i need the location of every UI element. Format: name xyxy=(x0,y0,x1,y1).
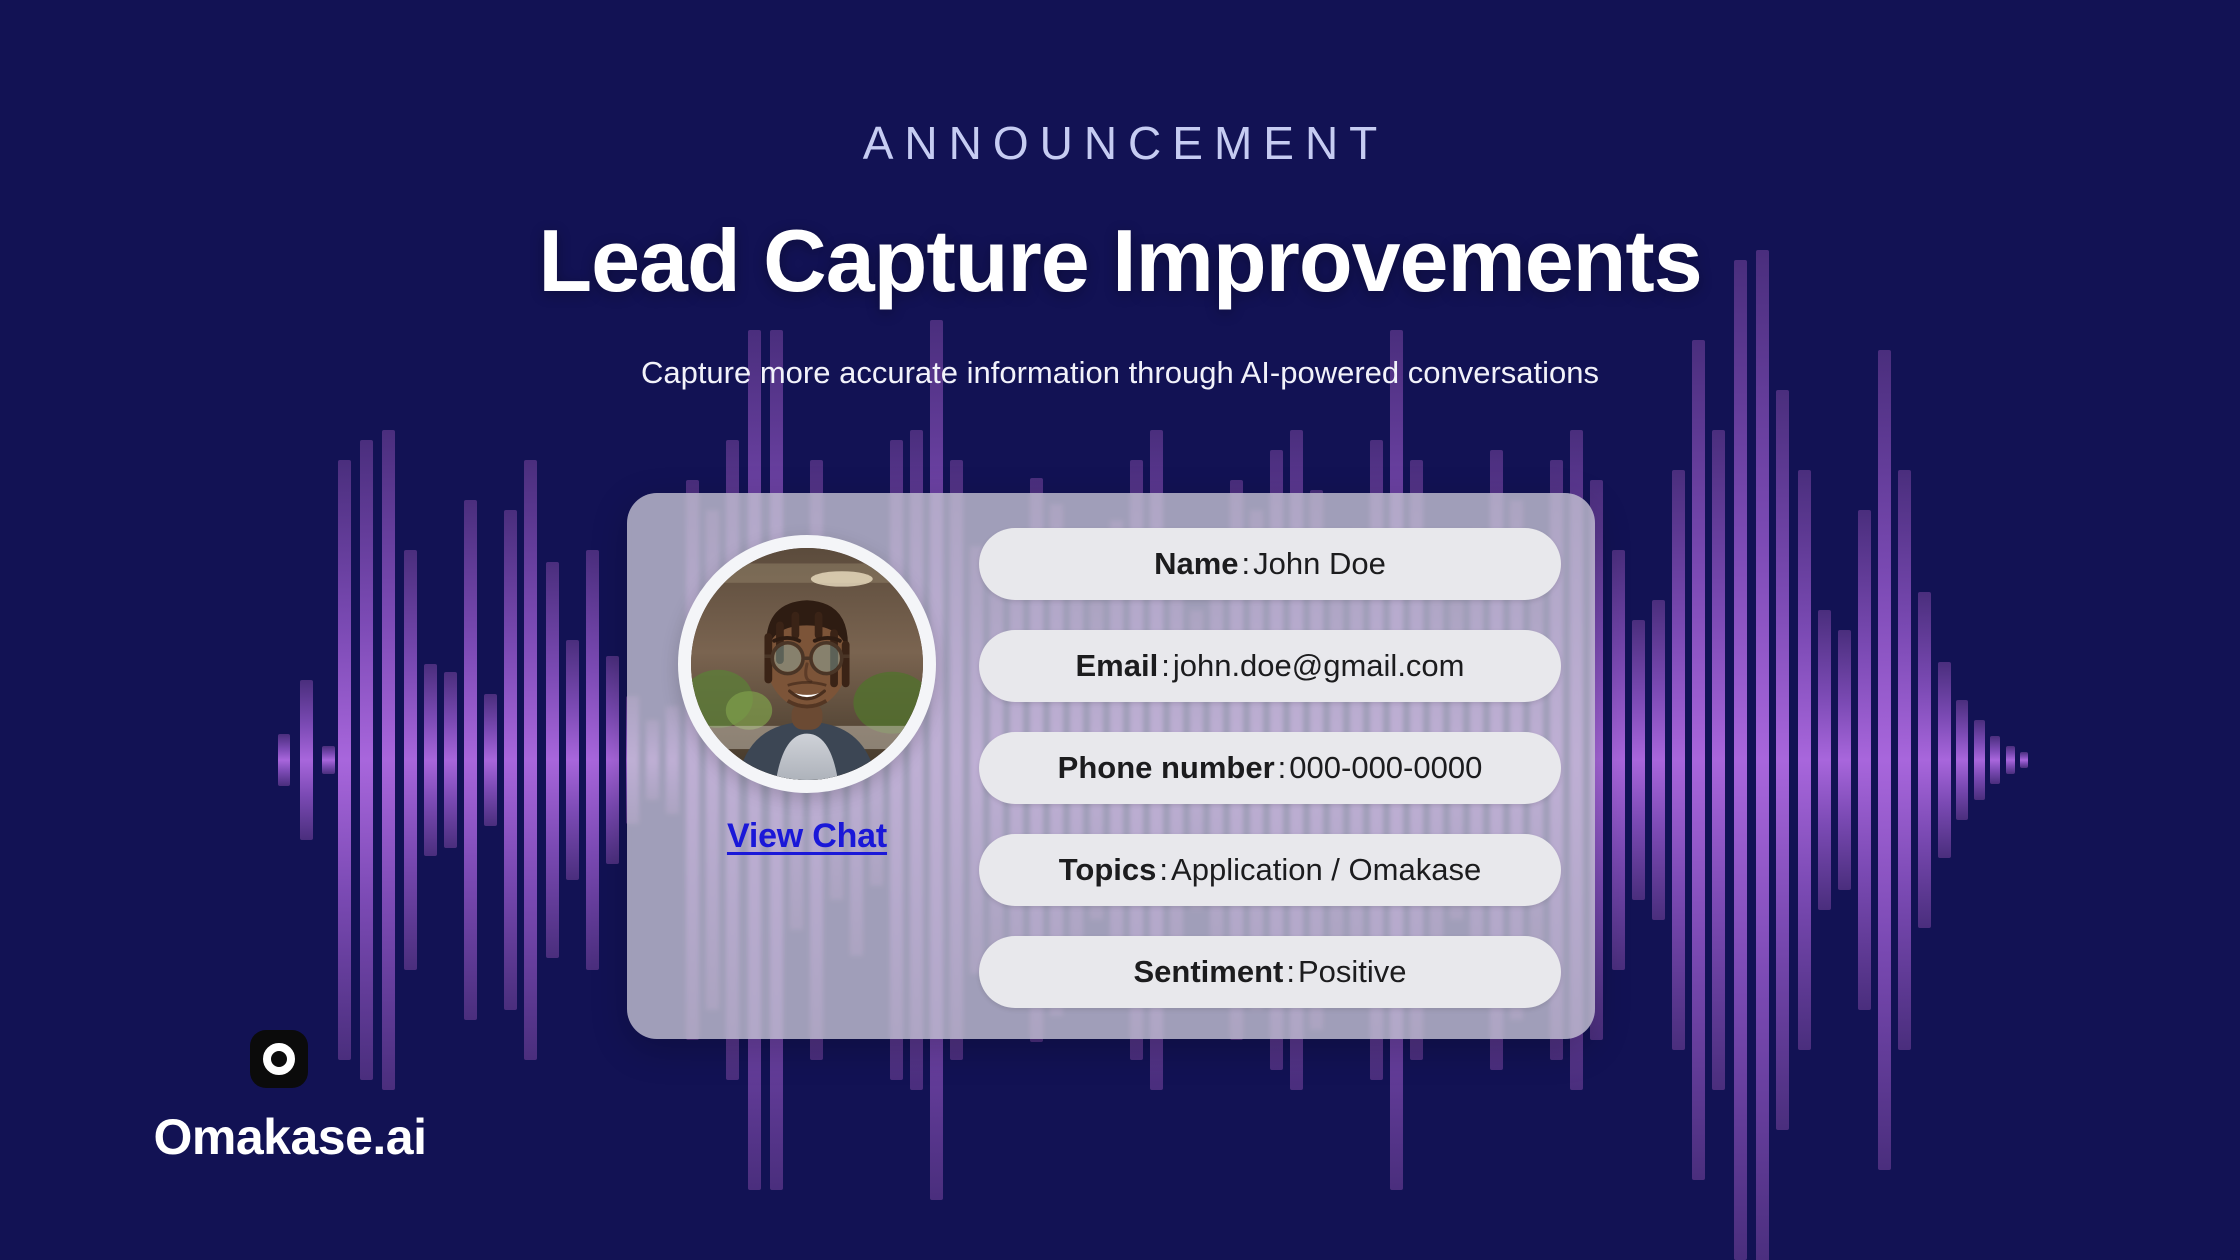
lead-field-value: John Doe xyxy=(1253,546,1386,582)
lead-field-separator: : xyxy=(1275,750,1290,786)
waveform-bar xyxy=(606,656,619,864)
card-left-column: View Chat xyxy=(657,523,957,1009)
waveform-bar xyxy=(2006,746,2015,774)
lead-field-label: Email xyxy=(1075,648,1158,684)
waveform-bar xyxy=(464,500,477,1020)
lead-field-value: Positive xyxy=(1298,954,1407,990)
waveform-bar xyxy=(1612,550,1625,970)
waveform-bar xyxy=(1692,340,1705,1180)
lead-capture-card: View Chat Name : John DoeEmail : john.do… xyxy=(627,493,1595,1039)
waveform-bar xyxy=(1632,620,1645,900)
view-chat-link[interactable]: View Chat xyxy=(727,817,887,856)
waveform-bar xyxy=(524,460,537,1060)
brand-name: Omakase.ai xyxy=(120,1108,460,1166)
waveform-bar xyxy=(1974,720,1985,800)
waveform-bar xyxy=(2020,752,2028,768)
waveform-bar xyxy=(1818,610,1831,910)
lead-field-separator: : xyxy=(1158,648,1173,684)
waveform-bar xyxy=(1734,260,1747,1260)
waveform-bar xyxy=(444,672,457,848)
waveform-bar xyxy=(382,430,395,1090)
waveform-bar xyxy=(1878,350,1891,1170)
brand-logo: Omakase.ai xyxy=(120,1030,460,1166)
waveform-bar xyxy=(338,460,351,1060)
waveform-bar xyxy=(1898,470,1911,1050)
waveform-bar xyxy=(1956,700,1968,820)
waveform-bar xyxy=(566,640,579,880)
waveform-bar xyxy=(586,550,599,970)
lead-field-row: Sentiment : Positive xyxy=(979,936,1561,1008)
lead-field-label: Topics xyxy=(1059,852,1157,888)
waveform-bar xyxy=(1652,600,1665,920)
lead-field-value: john.doe@gmail.com xyxy=(1173,648,1465,684)
announcement-graphic: ANNOUNCEMENT Lead Capture Improvements C… xyxy=(0,0,2240,1260)
waveform-bar xyxy=(360,440,373,1080)
lead-field-label: Name xyxy=(1154,546,1238,582)
ring-glyph xyxy=(263,1043,295,1075)
lead-field-label: Sentiment xyxy=(1133,954,1283,990)
waveform-bar xyxy=(404,550,417,970)
waveform-bar xyxy=(278,734,290,786)
waveform-bar xyxy=(1756,250,1769,1260)
lead-field-label: Phone number xyxy=(1058,750,1275,786)
waveform-bar xyxy=(1918,592,1931,928)
waveform-bar xyxy=(1672,470,1685,1050)
waveform-bar xyxy=(484,694,497,826)
avatar-photo xyxy=(691,548,923,780)
lead-field-row: Email : john.doe@gmail.com xyxy=(979,630,1561,702)
waveform-bar xyxy=(1712,430,1725,1090)
lead-field-separator: : xyxy=(1283,954,1298,990)
waveform-bar xyxy=(1990,736,2000,784)
lead-field-row: Name : John Doe xyxy=(979,528,1561,600)
waveform-bar xyxy=(424,664,437,856)
avatar xyxy=(678,535,936,793)
page-title: Lead Capture Improvements xyxy=(0,215,2240,307)
lead-field-value: 000-000-0000 xyxy=(1289,750,1482,786)
lead-field-value: Application / Omakase xyxy=(1171,852,1481,888)
lead-field-separator: : xyxy=(1239,546,1254,582)
waveform-bar xyxy=(1776,390,1789,1130)
waveform-bar xyxy=(1858,510,1871,1010)
lead-field-row: Topics : Application / Omakase xyxy=(979,834,1561,906)
lead-field-row: Phone number : 000-000-0000 xyxy=(979,732,1561,804)
omakase-ring-icon xyxy=(250,1030,308,1088)
lead-fields-list: Name : John DoeEmail : john.doe@gmail.co… xyxy=(957,523,1561,1009)
lead-field-separator: : xyxy=(1156,852,1171,888)
waveform-bar xyxy=(322,746,335,774)
page-subtitle: Capture more accurate information throug… xyxy=(0,355,2240,391)
waveform-bar xyxy=(1798,470,1811,1050)
waveform-bar xyxy=(504,510,517,1010)
waveform-bar xyxy=(1938,662,1951,858)
waveform-bar xyxy=(300,680,313,840)
waveform-bar xyxy=(546,562,559,958)
waveform-bar xyxy=(1838,630,1851,890)
eyebrow-label: ANNOUNCEMENT xyxy=(0,116,2240,170)
